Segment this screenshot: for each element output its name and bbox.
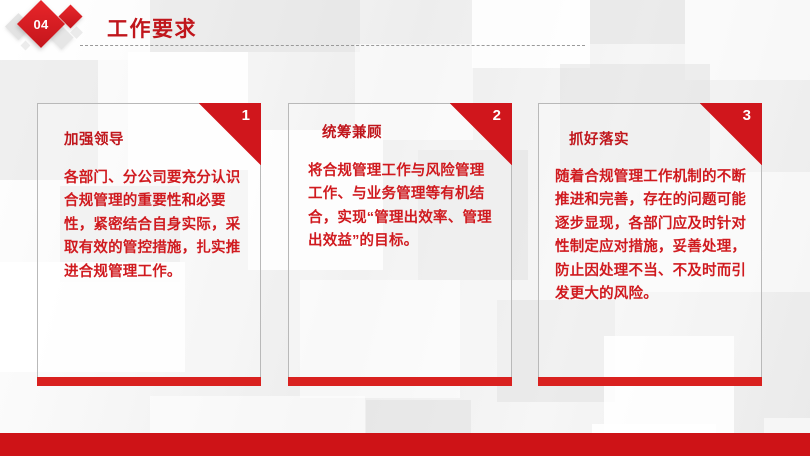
card-number: 2 xyxy=(493,108,501,123)
section-number: 04 xyxy=(24,7,58,41)
corner-ribbon xyxy=(700,103,762,165)
content-card[interactable]: 2 统筹兼顾 将合规管理工作与风险管理工作、与业务管理等有机结合，实现“管理出效… xyxy=(288,103,512,386)
card-number: 1 xyxy=(242,108,250,123)
corner-ribbon xyxy=(450,103,512,165)
slide-canvas: 04 工作要求 1 加强领导 各部门、分公司要充分认识合规管理的重要性和必要性，… xyxy=(0,0,810,456)
card-body: 随着合规管理工作机制的不断推进和完善，存在的问题可能逐步显现，各部门应及时针对性… xyxy=(555,166,747,307)
card-title: 统筹兼顾 xyxy=(322,121,382,142)
page-title: 工作要求 xyxy=(107,13,197,43)
card-accent-bar xyxy=(288,377,512,386)
content-card[interactable]: 1 加强领导 各部门、分公司要充分认识合规管理的重要性和必要性，紧密结合自身实际… xyxy=(37,103,261,386)
card-accent-bar xyxy=(37,377,261,386)
diamond-decoration-icon xyxy=(21,41,31,51)
bg-shape xyxy=(366,400,471,434)
card-body: 各部门、分公司要充分认识合规管理的重要性和必要性，紧密结合自身实际，采取有效的管… xyxy=(64,167,244,284)
card-accent-bar xyxy=(538,377,762,386)
card-number: 3 xyxy=(743,108,751,123)
content-card[interactable]: 3 抓好落实 随着合规管理工作机制的不断推进和完善，存在的问题可能逐步显现，各部… xyxy=(538,103,762,386)
corner-ribbon xyxy=(199,103,261,165)
card-title: 抓好落实 xyxy=(569,128,629,149)
bg-shape xyxy=(150,396,365,436)
footer-accent-bar xyxy=(0,433,810,456)
card-title: 加强领导 xyxy=(64,128,124,149)
header-divider xyxy=(80,45,585,46)
card-body: 将合规管理工作与风险管理工作、与业务管理等有机结合，实现“管理出效率、管理出效益… xyxy=(308,160,494,254)
slide-header: 04 工作要求 xyxy=(0,0,810,62)
